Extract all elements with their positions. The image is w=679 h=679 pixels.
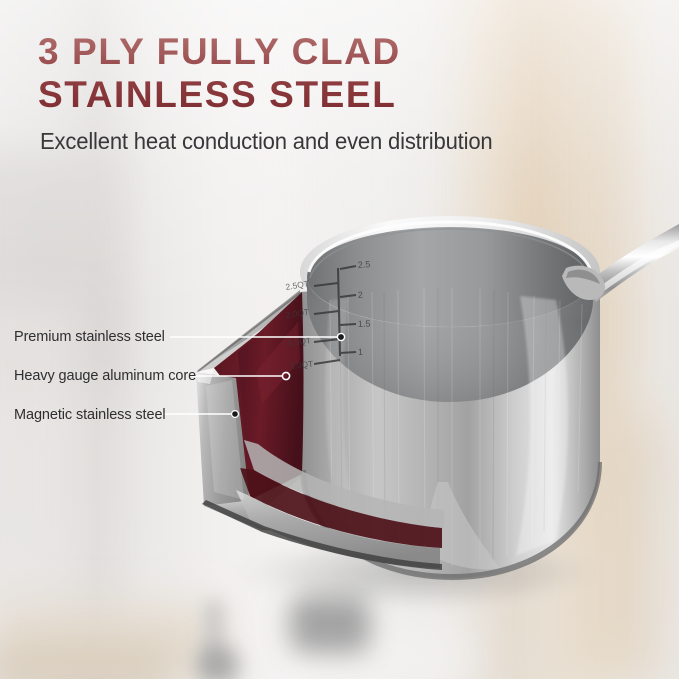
callout-magnetic-stainless-steel: Magnetic stainless steel [14,406,166,424]
scale-tick-metric-3 [340,324,356,325]
leader-dot-premium [337,333,344,340]
scale-metric-label-1: 2.5 [357,259,370,270]
scale-imperial-label-1: 2.5QT [285,278,310,292]
leader-dot-magnetic [232,411,239,418]
callout-heavy-gauge-aluminum-core: Heavy gauge aluminum core [14,367,196,385]
scale-metric-label-4: 1 [358,347,363,357]
callout-label: Magnetic stainless steel [14,407,166,423]
scale-tick-metric-4 [340,352,356,353]
callout-label: Premium stainless steel [14,329,165,345]
callout-premium-stainless-steel: Premium stainless steel [14,328,165,346]
headline-block: 3 PLY FULLY CLAD STAINLESS STEEL Excelle… [38,30,638,155]
scale-metric-label-2: 2 [358,290,364,300]
page-title: 3 PLY FULLY CLAD STAINLESS STEEL [38,30,638,116]
callout-label: Heavy gauge aluminum core [14,368,196,384]
scale-metric-label-3: 1.5 [358,319,371,329]
page-subtitle: Excellent heat conduction and even distr… [40,128,614,155]
product-feature-image: 2.5 2 1.5 1 2.5QT 2.0QT 1.5QT 1.0QT [0,0,679,679]
